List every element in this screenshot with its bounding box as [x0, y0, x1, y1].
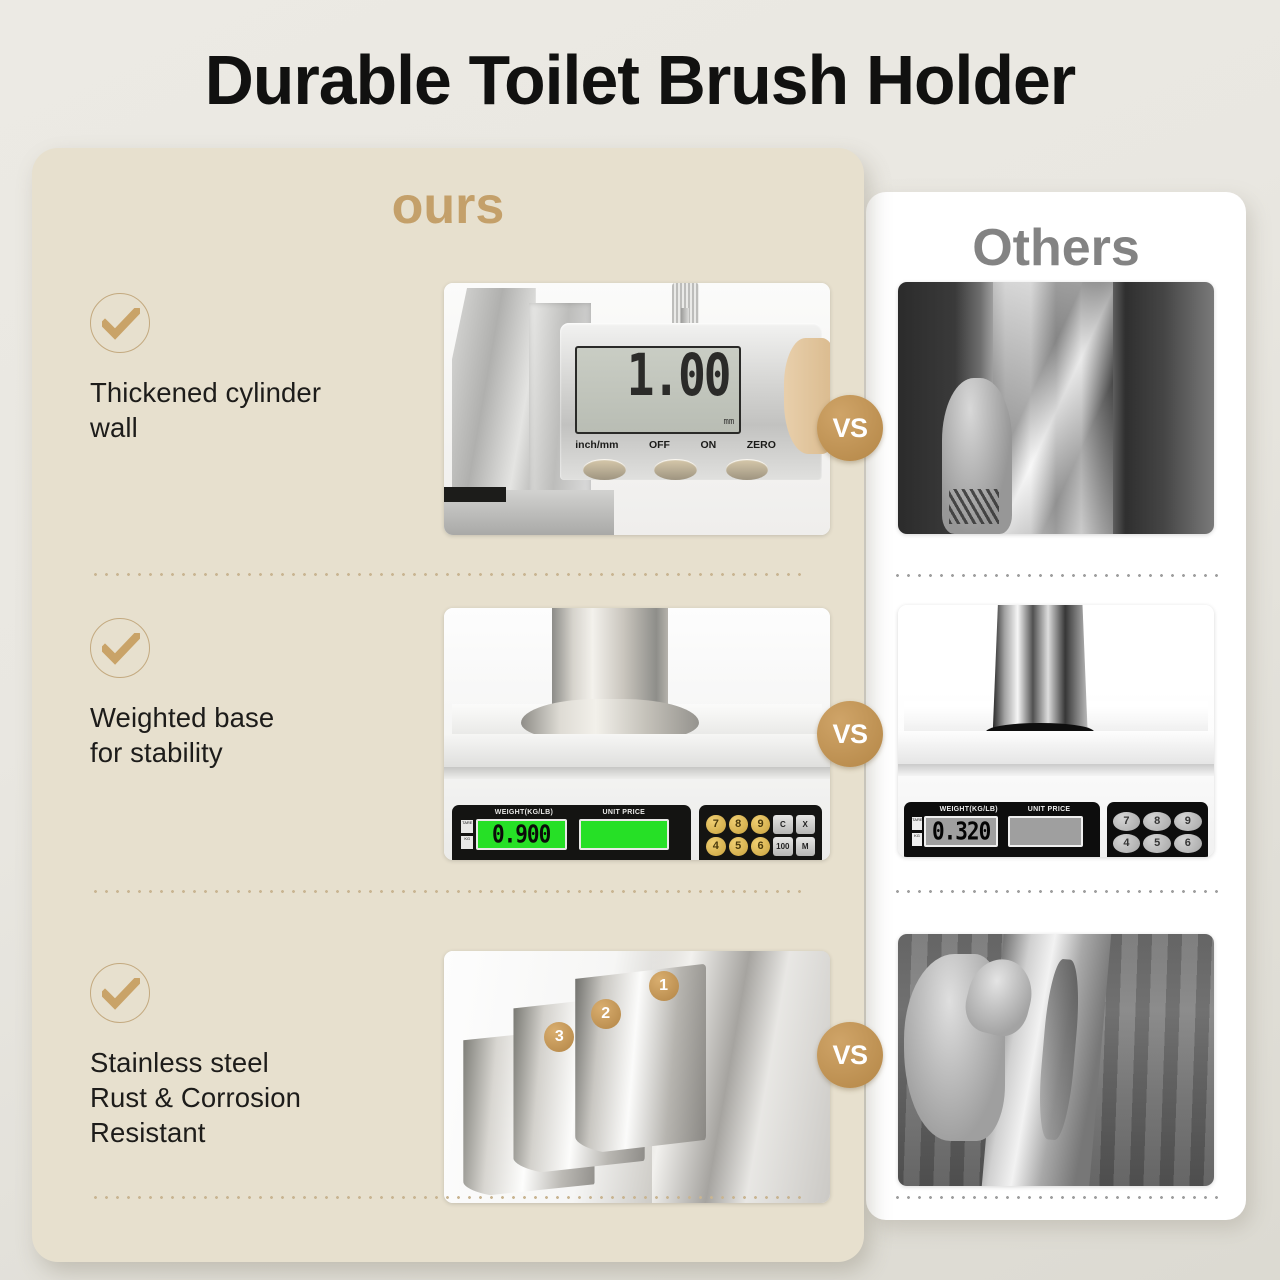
- scale-price-label: UNIT PRICE: [1028, 806, 1071, 813]
- keypad-key[interactable]: 4: [706, 837, 725, 856]
- feature-label-weighted-base: Weighted base for stability: [90, 700, 410, 770]
- feature-label-stainless-steel: Stainless steel Rust & Corrosion Resista…: [90, 1045, 410, 1151]
- row-divider: [90, 573, 806, 576]
- keypad-key[interactable]: 9: [1174, 812, 1202, 831]
- others-panel: Others WEIGHT(KG/LB) UNIT PRICE TARE KG: [866, 192, 1246, 1220]
- layer-marker-3: 3: [544, 1022, 574, 1052]
- ours-image-weighted-base: WEIGHT(KG/LB) UNIT PRICE TARE KG 0.900 7…: [444, 608, 830, 860]
- row-divider: [90, 890, 806, 893]
- keypad-key[interactable]: 7: [1113, 812, 1141, 831]
- keypad-key[interactable]: 6: [1174, 834, 1202, 853]
- check-icon: [90, 963, 150, 1023]
- keypad-key[interactable]: 7: [706, 815, 725, 834]
- scale-weight-label: WEIGHT(KG/LB): [940, 806, 998, 813]
- scale-display-panel: WEIGHT(KG/LB) UNIT PRICE TARE KG 0.320: [904, 802, 1100, 857]
- ours-image-thickened-wall: 1.00 mm inch/mm OFF ON ZERO: [444, 283, 830, 535]
- feature-block-weighted-base: Weighted base for stability: [90, 618, 410, 770]
- keypad-key[interactable]: 8: [1143, 812, 1171, 831]
- feature-block-stainless-steel: Stainless steel Rust & Corrosion Resista…: [90, 963, 410, 1151]
- ours-feature-row-weighted-base: Weighted base for stability WEIGHT(KG/LB…: [32, 588, 864, 878]
- keypad-key-clear[interactable]: C: [773, 815, 792, 834]
- scale-tag-tare: TARE: [912, 817, 922, 830]
- scale-display-panel: WEIGHT(KG/LB) UNIT PRICE TARE KG 0.900: [452, 805, 691, 860]
- keypad-key-memory[interactable]: M: [796, 837, 815, 856]
- row-divider: [892, 1196, 1220, 1199]
- layer-marker-2: 2: [591, 999, 621, 1029]
- others-image-thickened-wall: [898, 282, 1214, 534]
- caliper-reading: 1.00: [627, 346, 730, 409]
- ours-feature-row-thickened-wall: Thickened cylinder wall 1.00 mm inch/mm …: [32, 283, 864, 573]
- keypad-key-100[interactable]: 100: [773, 837, 792, 856]
- keypad-key[interactable]: 5: [729, 837, 748, 856]
- check-icon: [90, 618, 150, 678]
- scale-keypad: 7 8 9 C X 4 5 6 100 M: [699, 805, 823, 860]
- caliper-unit: mm: [724, 417, 735, 427]
- page-title: Durable Toilet Brush Holder: [19, 40, 1261, 120]
- caliper-button-zero: [726, 459, 769, 479]
- scale-price-label: UNIT PRICE: [602, 809, 645, 816]
- feature-block-thickened-wall: Thickened cylinder wall: [90, 293, 410, 445]
- row-divider: [90, 1196, 806, 1199]
- keypad-key[interactable]: 8: [729, 815, 748, 834]
- scale-tag-kg: KG: [912, 833, 922, 846]
- ours-column-header: ours: [32, 176, 864, 236]
- caliper-lcd: 1.00 mm: [575, 346, 741, 434]
- layer-marker-1: 1: [649, 971, 679, 1001]
- ours-panel: ours Thickened cylinder wall 1.00 mm inc…: [32, 148, 864, 1262]
- caliper-label-off: OFF: [649, 439, 670, 451]
- caliper-button-inchmm: [583, 459, 626, 479]
- keypad-key[interactable]: 9: [751, 815, 770, 834]
- scale-tag-tare: TARE: [461, 820, 473, 833]
- caliper-label-inchmm: inch/mm: [575, 439, 618, 451]
- feature-label-thickened-wall: Thickened cylinder wall: [90, 375, 410, 445]
- others-row-weighted-base: WEIGHT(KG/LB) UNIT PRICE TARE KG 0.320 7…: [866, 587, 1246, 877]
- scale-price-lcd: [579, 819, 670, 850]
- vs-badge: VS: [817, 1022, 883, 1088]
- scale-price-lcd: [1008, 816, 1082, 847]
- keypad-key[interactable]: 6: [751, 837, 770, 856]
- ours-image-stainless-steel: 1 2 3: [444, 951, 830, 1203]
- scale-weight-reading: 0.320: [932, 817, 990, 846]
- others-column-header: Others: [866, 218, 1246, 278]
- others-row-thickened-wall: [866, 282, 1246, 572]
- keypad-key[interactable]: 5: [1143, 834, 1171, 853]
- row-divider: [892, 890, 1220, 893]
- caliper-label-zero: ZERO: [747, 439, 776, 451]
- check-icon: [90, 293, 150, 353]
- caliper-label-on: ON: [700, 439, 716, 451]
- scale-tag-kg: KG: [461, 836, 473, 849]
- ours-feature-row-stainless-steel: Stainless steel Rust & Corrosion Resista…: [32, 913, 864, 1203]
- scale-weight-lcd: 0.900: [476, 819, 567, 850]
- row-divider: [892, 574, 1220, 577]
- others-row-stainless-steel: [866, 912, 1246, 1202]
- vs-badge: VS: [817, 395, 883, 461]
- keypad-key-fn[interactable]: X: [796, 815, 815, 834]
- others-image-stainless-steel: [898, 934, 1214, 1186]
- caliper-button-onoff: [654, 459, 697, 479]
- keypad-key[interactable]: 4: [1113, 834, 1141, 853]
- scale-weight-label: WEIGHT(KG/LB): [495, 809, 553, 816]
- scale-keypad: 7 8 9 4 5 6: [1107, 802, 1208, 857]
- scale-weight-lcd: 0.320: [924, 816, 998, 847]
- others-image-weighted-base: WEIGHT(KG/LB) UNIT PRICE TARE KG 0.320 7…: [898, 605, 1214, 857]
- vs-badge: VS: [817, 701, 883, 767]
- scale-weight-reading: 0.900: [492, 820, 550, 849]
